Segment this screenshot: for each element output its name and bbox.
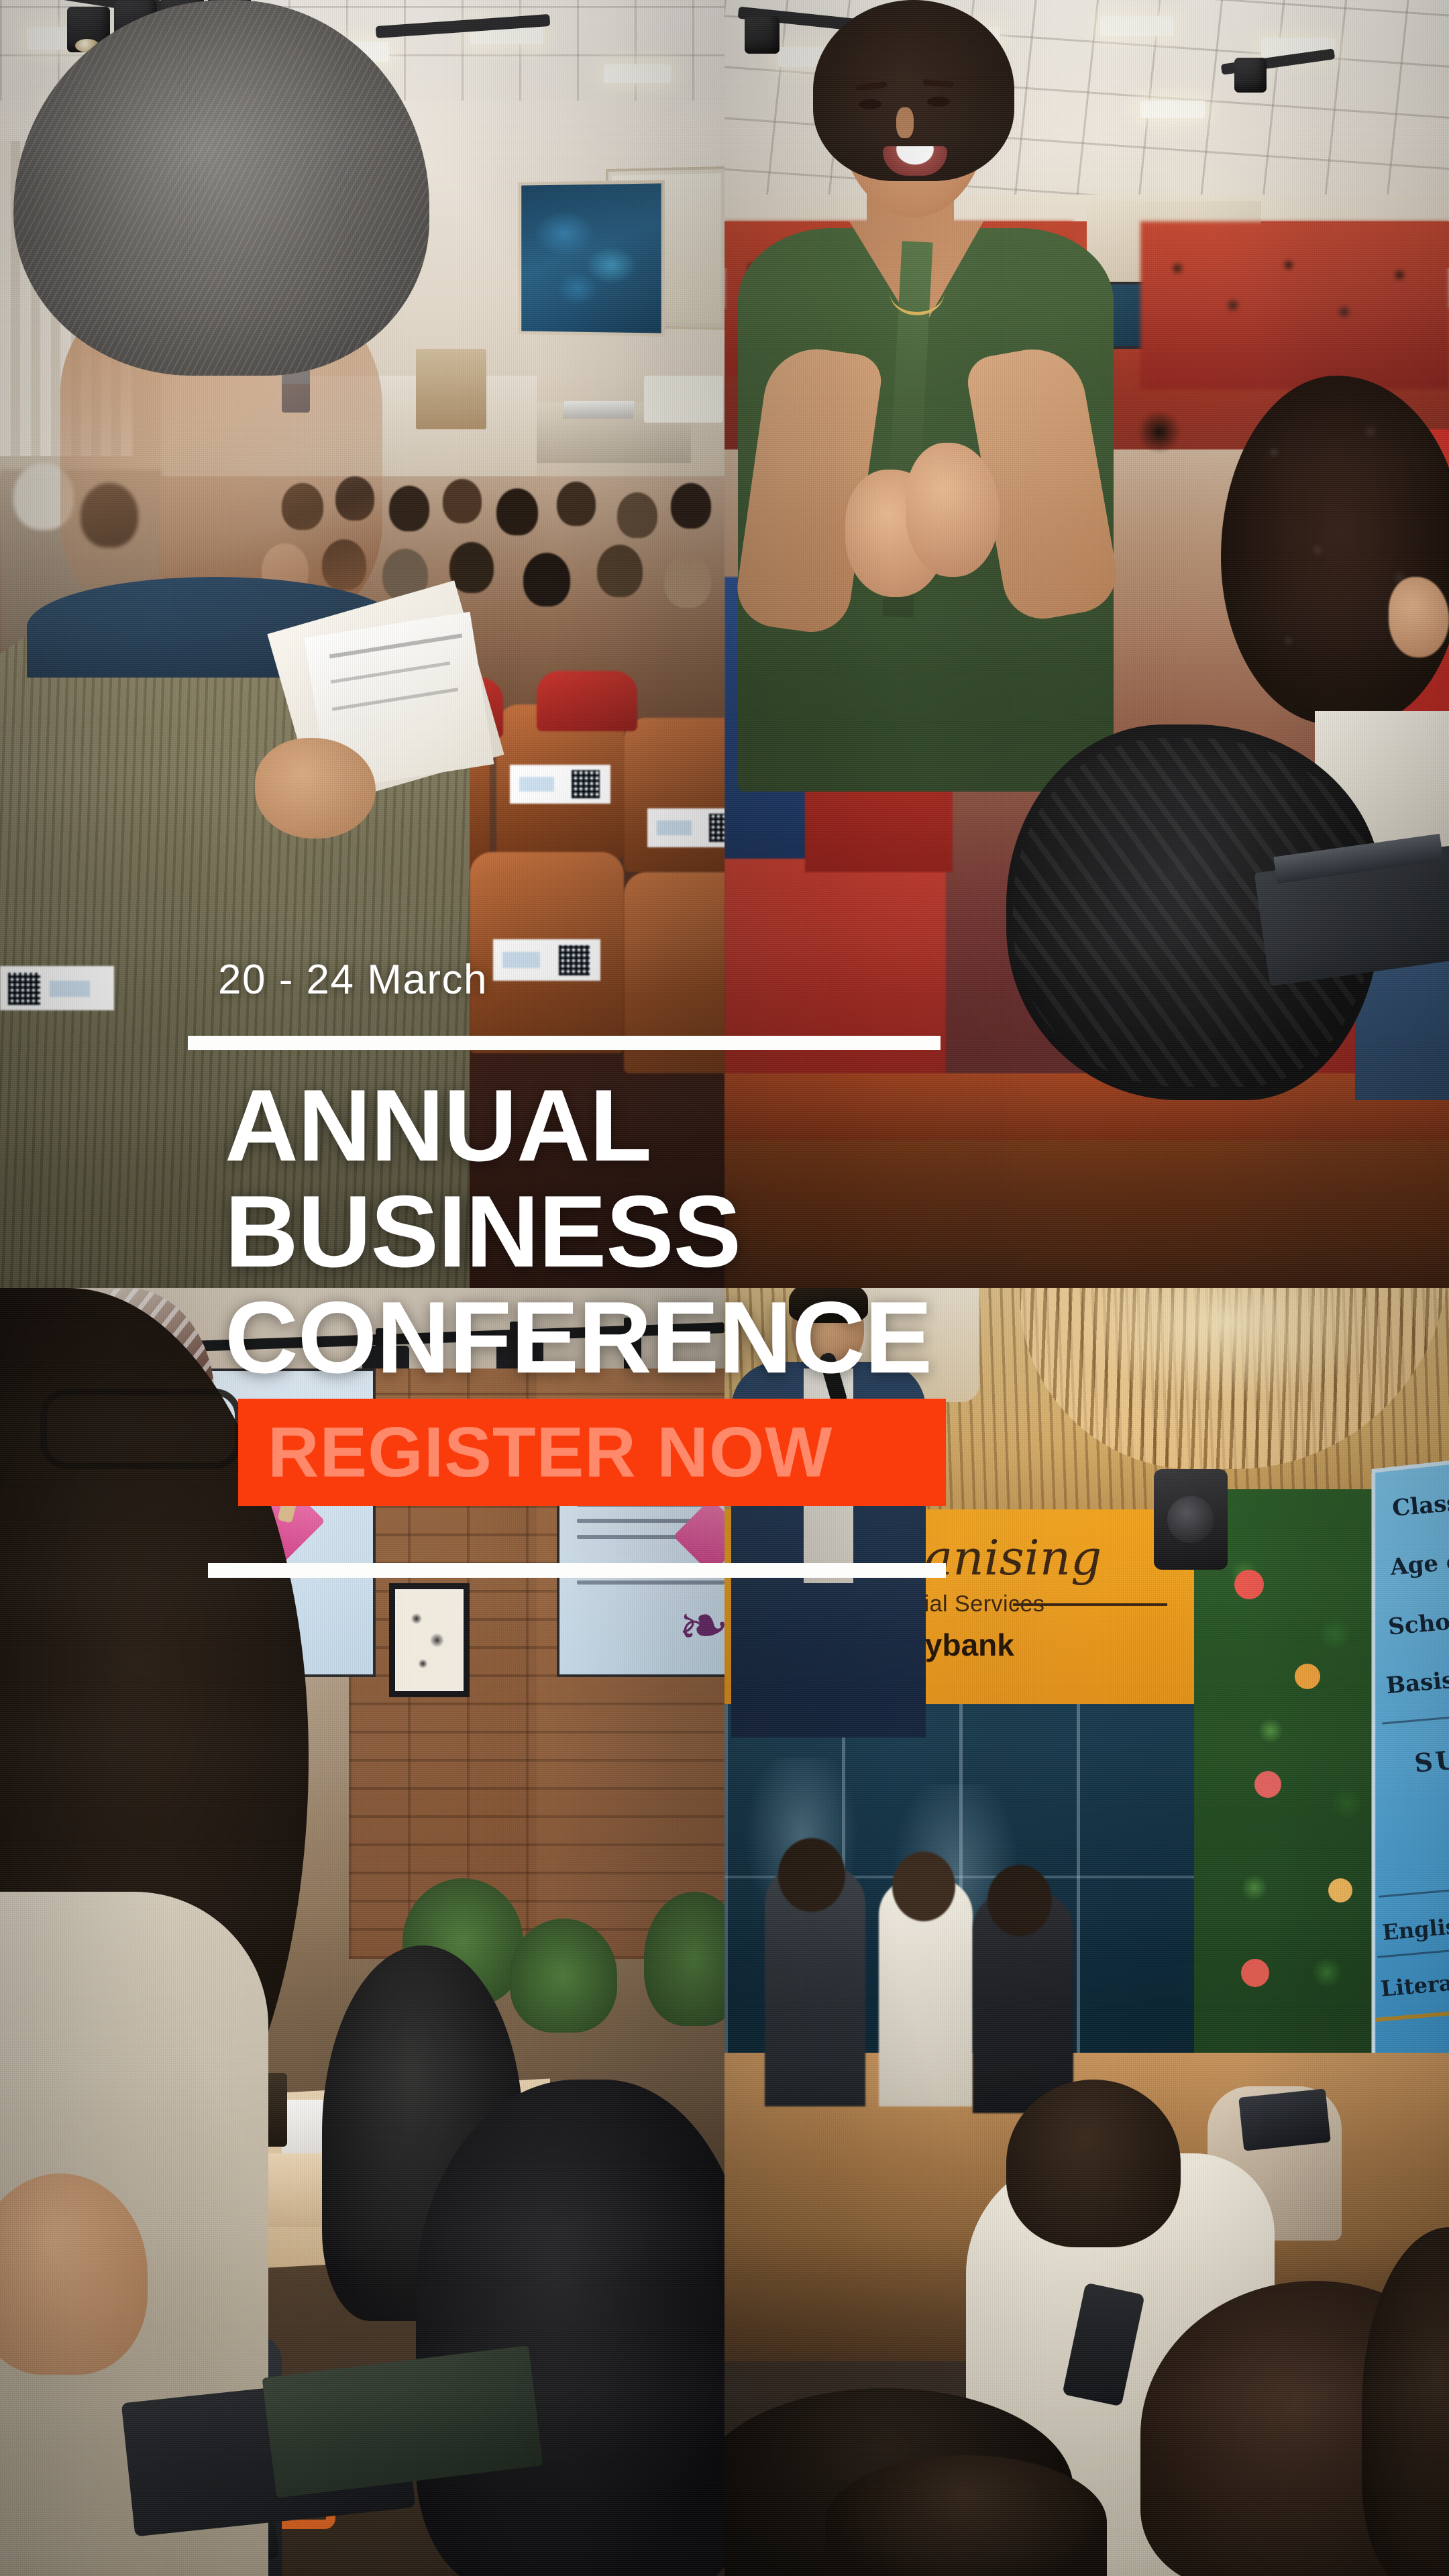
photo-top-left [0, 0, 724, 1288]
conference-poster: ❧ ❧ ❧ ❧ [0, 0, 1449, 2576]
photo-collage: ❧ ❧ ❧ ❧ [0, 0, 1449, 2576]
register-now-label: REGISTER NOW [268, 1417, 833, 1488]
photo-top-right [724, 0, 1449, 1288]
register-now-button[interactable]: REGISTER NOW [238, 1399, 946, 1506]
